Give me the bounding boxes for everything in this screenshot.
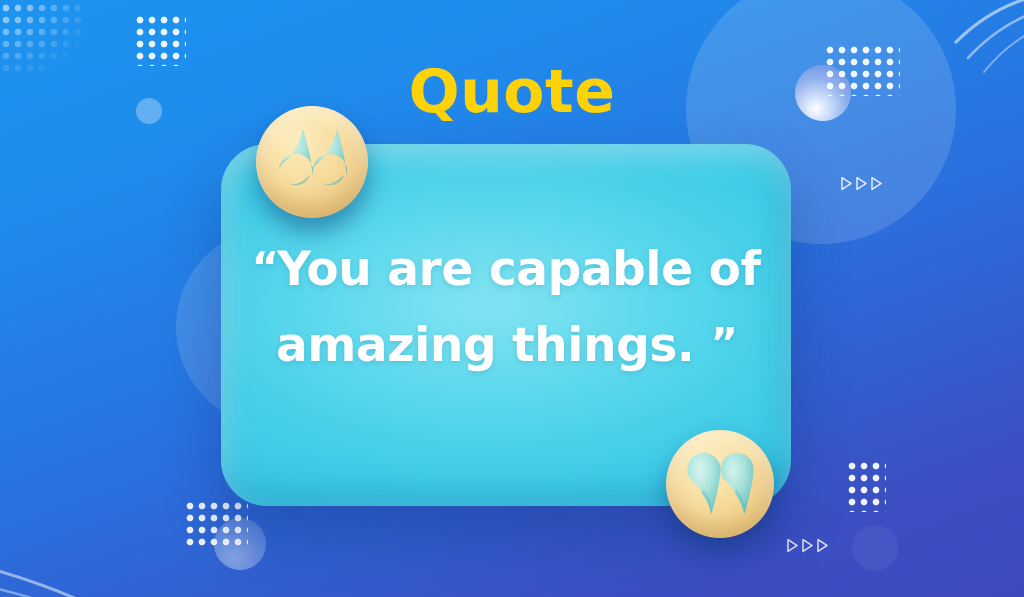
closing-quote-mark: ”: [710, 319, 736, 368]
arrow-group-top-right: [840, 176, 883, 191]
dot-grid-top-left: [134, 14, 186, 66]
page-title: Quote: [0, 62, 1024, 122]
quote-poster: Quote “You are capable of amazing things…: [0, 0, 1024, 597]
dot-grid-bottom-left: [184, 500, 248, 548]
quote-line-2: amazing things.: [276, 318, 694, 373]
triangle-arrow-icon: [840, 176, 853, 191]
triangle-arrow-icon: [855, 176, 868, 191]
gradient-sphere-bottom-right: [852, 525, 898, 571]
closing-quote-marks-icon: [678, 446, 762, 522]
dot-grid-bottom-right: [846, 460, 886, 512]
opening-quote-badge: [256, 106, 368, 218]
swoosh-lines-bottom-left: [0, 523, 120, 597]
quote-line-1: You are capable of: [277, 242, 760, 297]
arrow-group-bottom-right: [786, 538, 829, 553]
triangle-arrow-icon: [870, 176, 883, 191]
quote-text: “You are capable of amazing things. ”: [245, 232, 767, 384]
triangle-arrow-icon: [801, 538, 814, 553]
triangle-arrow-icon: [786, 538, 799, 553]
opening-quote-marks-icon: [269, 123, 355, 201]
closing-quote-badge: [666, 430, 774, 538]
triangle-arrow-icon: [816, 538, 829, 553]
opening-quote-mark: “: [251, 243, 277, 292]
